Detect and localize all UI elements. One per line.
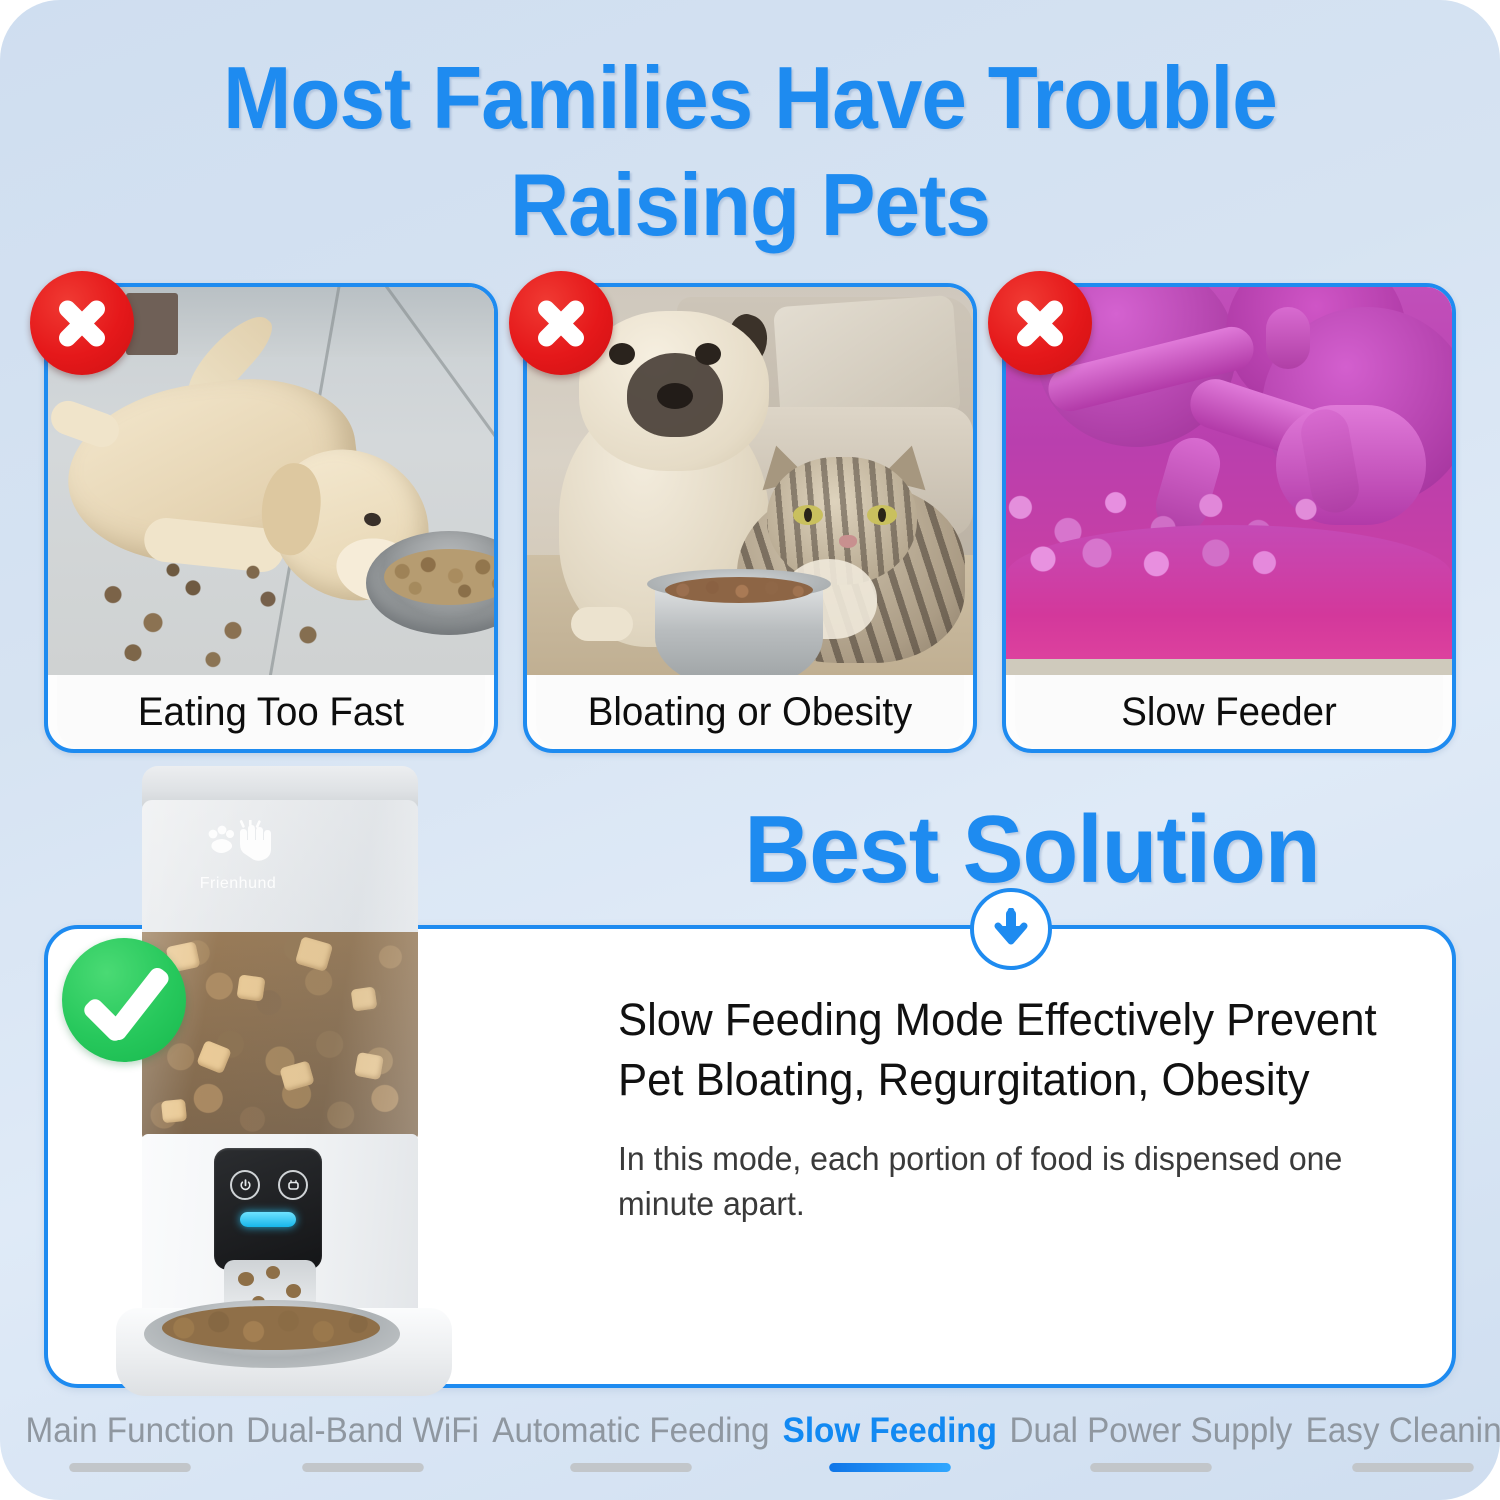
- tab-easy-cleaning[interactable]: Easy Cleaning: [1306, 1411, 1500, 1472]
- tab-label: Slow Feeding: [782, 1411, 996, 1451]
- tab-automatic-feeding[interactable]: Automatic Feeding: [492, 1411, 769, 1472]
- problem-cards: Eating Too Fast: [44, 283, 1456, 745]
- tab-underline: [1090, 1463, 1212, 1472]
- down-arrow-icon: [970, 888, 1052, 970]
- bowl-kibble: [162, 1306, 380, 1350]
- power-icon[interactable]: [230, 1170, 260, 1200]
- paw-highfive-icon: [178, 820, 298, 877]
- tab-underline: [302, 1463, 424, 1472]
- best-solution-heading: Best Solution: [633, 795, 1431, 905]
- check-mark-icon: [62, 938, 186, 1062]
- page-title: Most Families Have Trouble Raising Pets: [53, 44, 1448, 259]
- tab-label: Main Function: [25, 1411, 234, 1451]
- brand-name: Frienhund: [178, 875, 298, 893]
- tab-underline-active: [829, 1463, 951, 1472]
- tab-main-function[interactable]: Main Function: [25, 1411, 234, 1472]
- tab-underline: [69, 1463, 191, 1472]
- brand-logo: Frienhund: [178, 820, 298, 910]
- problem-card-slow-feeder[interactable]: Slow Feeder: [1002, 283, 1456, 753]
- tab-label: Dual-Band WiFi: [246, 1411, 479, 1451]
- x-mark-icon: [30, 271, 134, 375]
- card-caption: Slow Feeder: [1015, 675, 1443, 749]
- control-panel[interactable]: [214, 1148, 322, 1270]
- solution-text-block: Slow Feeding Mode Effectively Prevent Pe…: [618, 990, 1448, 1227]
- infographic-page: Most Families Have Trouble Raising Pets: [0, 0, 1500, 1500]
- problem-card-bloating-obesity[interactable]: Bloating or Obesity: [523, 283, 977, 753]
- x-mark-icon: [509, 271, 613, 375]
- card-caption: Eating Too Fast: [57, 675, 485, 749]
- x-mark-icon: [988, 271, 1092, 375]
- kibble-fill: [142, 932, 418, 1140]
- tab-underline: [570, 1463, 692, 1472]
- feature-tab-bar: Main Function Dual-Band WiFi Automatic F…: [0, 1382, 1500, 1500]
- tab-underline: [1352, 1463, 1474, 1472]
- tab-label: Easy Cleaning: [1306, 1411, 1500, 1451]
- pet-feeder-device: Frienhund: [122, 760, 482, 1360]
- solution-description: In this mode, each portion of food is di…: [618, 1136, 1423, 1227]
- problem-card-eating-too-fast[interactable]: Eating Too Fast: [44, 283, 498, 753]
- tab-dual-band-wifi[interactable]: Dual-Band WiFi: [246, 1411, 479, 1472]
- tab-label: Dual Power Supply: [1010, 1411, 1293, 1451]
- tab-dual-power-supply[interactable]: Dual Power Supply: [1010, 1411, 1293, 1472]
- tab-slow-feeding[interactable]: Slow Feeding: [782, 1411, 996, 1472]
- card-caption: Bloating or Obesity: [536, 675, 964, 749]
- solution-title: Slow Feeding Mode Effectively Prevent Pe…: [618, 990, 1423, 1110]
- feed-icon[interactable]: [278, 1170, 308, 1200]
- status-led: [240, 1212, 296, 1227]
- tab-label: Automatic Feeding: [492, 1411, 769, 1451]
